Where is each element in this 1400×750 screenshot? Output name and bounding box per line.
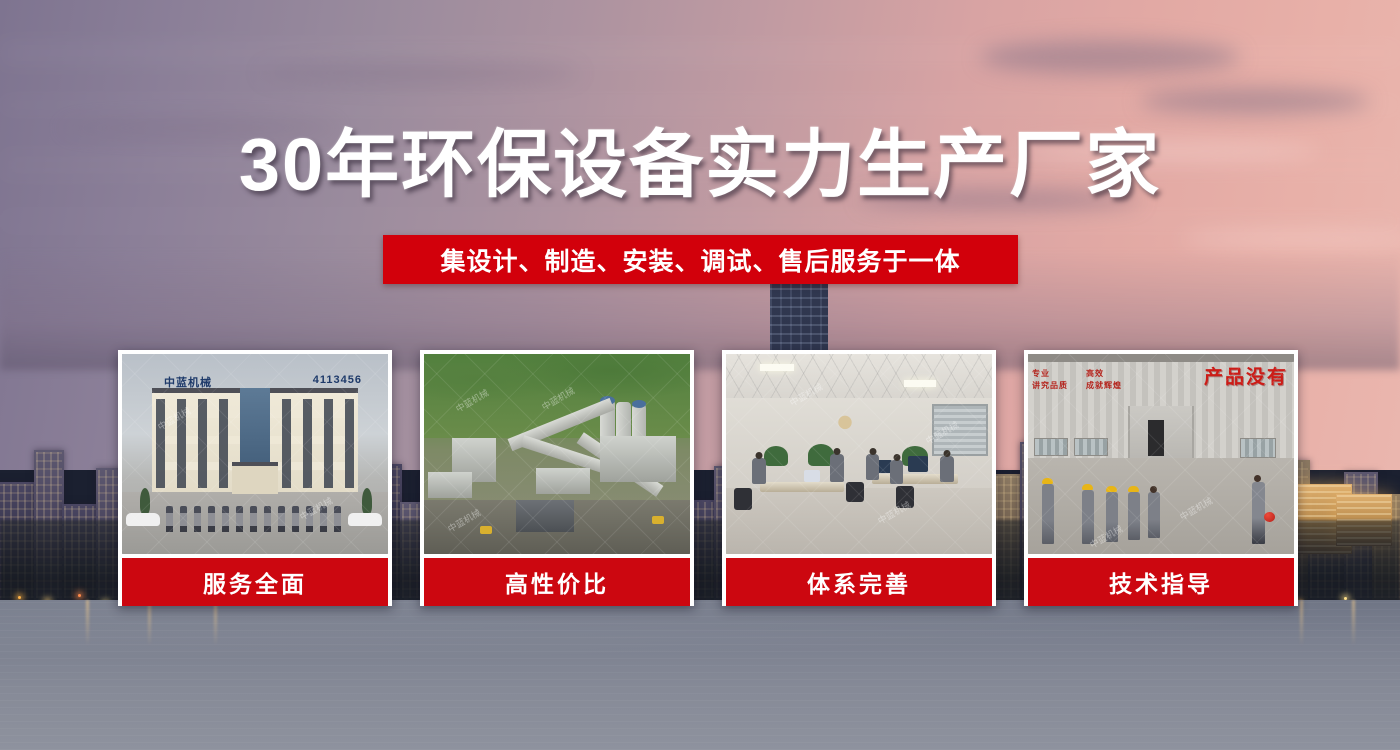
staff-member: [194, 506, 201, 532]
river-water: [0, 600, 1400, 750]
slogan-line-1: 专业: [1032, 369, 1050, 378]
staff-member: [278, 506, 285, 532]
building-phone-text: 4113456: [313, 374, 362, 386]
feature-card[interactable]: 中蓝机械 4113456: [118, 350, 392, 606]
feature-card[interactable]: 产品没有 专业 讲究品质 高效 成就辉煌: [1024, 350, 1298, 606]
staff-member: [250, 506, 257, 532]
water-reflection: [148, 600, 151, 646]
factory-roofline: [1028, 354, 1294, 362]
office-chair: [734, 488, 752, 510]
slogan-line-3: 高效: [1086, 369, 1104, 378]
hard-hat: [1082, 484, 1093, 490]
monitor: [908, 456, 928, 472]
water-reflection: [214, 600, 217, 646]
sky-haze-band: [0, 210, 1400, 232]
card-caption: 高性价比: [424, 558, 690, 606]
potted-plant: [764, 446, 788, 466]
factory-slogan-text: 专业 讲究品质: [1032, 368, 1068, 392]
parked-car: [348, 513, 382, 526]
card-caption: 服务全面: [122, 558, 388, 606]
staff-member: [334, 506, 341, 532]
card-caption: 体系完善: [726, 558, 992, 606]
staff-member: [222, 506, 229, 532]
worker: [1148, 492, 1160, 538]
office-worker: [890, 460, 903, 484]
laptop: [804, 470, 820, 482]
plant-building: [428, 472, 472, 498]
silo-cap: [632, 400, 646, 408]
factory-window: [1034, 438, 1068, 456]
wall-decal: [830, 412, 860, 438]
workshop-team-photo: 产品没有 专业 讲究品质 高效 成就辉煌: [1028, 354, 1294, 554]
office-worker: [830, 454, 844, 482]
factory-banner-text: 产品没有: [1204, 362, 1288, 389]
hard-hat: [1128, 486, 1139, 492]
excavator: [480, 526, 492, 534]
bank-light: [78, 594, 81, 597]
staff-member: [264, 506, 271, 532]
staff-member: [180, 506, 187, 532]
building-sign-text: 中蓝机械: [164, 374, 212, 390]
staff-member: [236, 506, 243, 532]
promo-banner: 30年环保设备实力生产厂家 集设计、制造、安装、调试、售后服务于一体 中蓝机械 …: [0, 0, 1400, 750]
plant-shed: [516, 500, 574, 532]
tree: [362, 488, 372, 514]
worker: [1128, 492, 1140, 540]
supervisor: [1252, 482, 1265, 544]
parked-car: [126, 513, 160, 526]
card-caption: 技术指导: [1028, 558, 1294, 606]
water-reflection: [1300, 600, 1303, 646]
feature-card[interactable]: 中蓝机械 中蓝机械 中蓝机械 高性价比: [420, 350, 694, 606]
supervisor-head: [1254, 475, 1261, 482]
red-helmet: [1264, 512, 1275, 522]
ceiling-light: [760, 364, 794, 371]
plant-building: [536, 468, 590, 494]
factory-slogan-text-2: 高效 成就辉煌: [1086, 368, 1122, 392]
company-headquarters-photo: 中蓝机械 4113456: [122, 354, 388, 554]
office-chair: [846, 482, 864, 502]
cloud: [1140, 88, 1370, 114]
office-worker: [752, 458, 766, 484]
water-reflection: [86, 600, 89, 646]
ceiling-light: [904, 380, 936, 387]
staff-member: [166, 506, 173, 532]
subtitle-banner: 集设计、制造、安装、调试、售后服务于一体: [383, 235, 1018, 284]
plant-building: [600, 436, 676, 482]
production-plant-aerial-photo: 中蓝机械 中蓝机械 中蓝机械: [424, 354, 690, 554]
building-entrance: [232, 462, 278, 494]
water-reflection: [1352, 600, 1355, 646]
slogan-line-4: 成就辉煌: [1086, 381, 1122, 390]
worker-head: [1150, 486, 1157, 493]
cloud: [980, 40, 1240, 74]
headline-text: 30年环保设备实力生产厂家: [0, 128, 1400, 202]
worker: [1042, 484, 1054, 544]
tree: [140, 488, 150, 514]
office-worker: [866, 454, 879, 480]
hard-hat: [1106, 486, 1117, 492]
office-worker: [940, 456, 954, 482]
feature-card[interactable]: 中蓝机械 中蓝机械 中蓝机械 体系完善: [722, 350, 996, 606]
cloud: [260, 60, 580, 86]
excavator: [652, 516, 664, 524]
bank-light: [18, 596, 21, 599]
hard-hat: [1042, 478, 1053, 484]
ceiling: [726, 354, 992, 400]
factory-door: [1148, 420, 1164, 456]
factory-window: [1240, 438, 1276, 458]
feature-card-row: 中蓝机械 4113456: [118, 350, 1284, 606]
office-interior-photo: 中蓝机械 中蓝机械 中蓝机械: [726, 354, 992, 554]
desk: [760, 482, 844, 492]
factory-window: [1074, 438, 1108, 456]
staff-member: [208, 506, 215, 532]
slogan-line-2: 讲究品质: [1032, 381, 1068, 390]
